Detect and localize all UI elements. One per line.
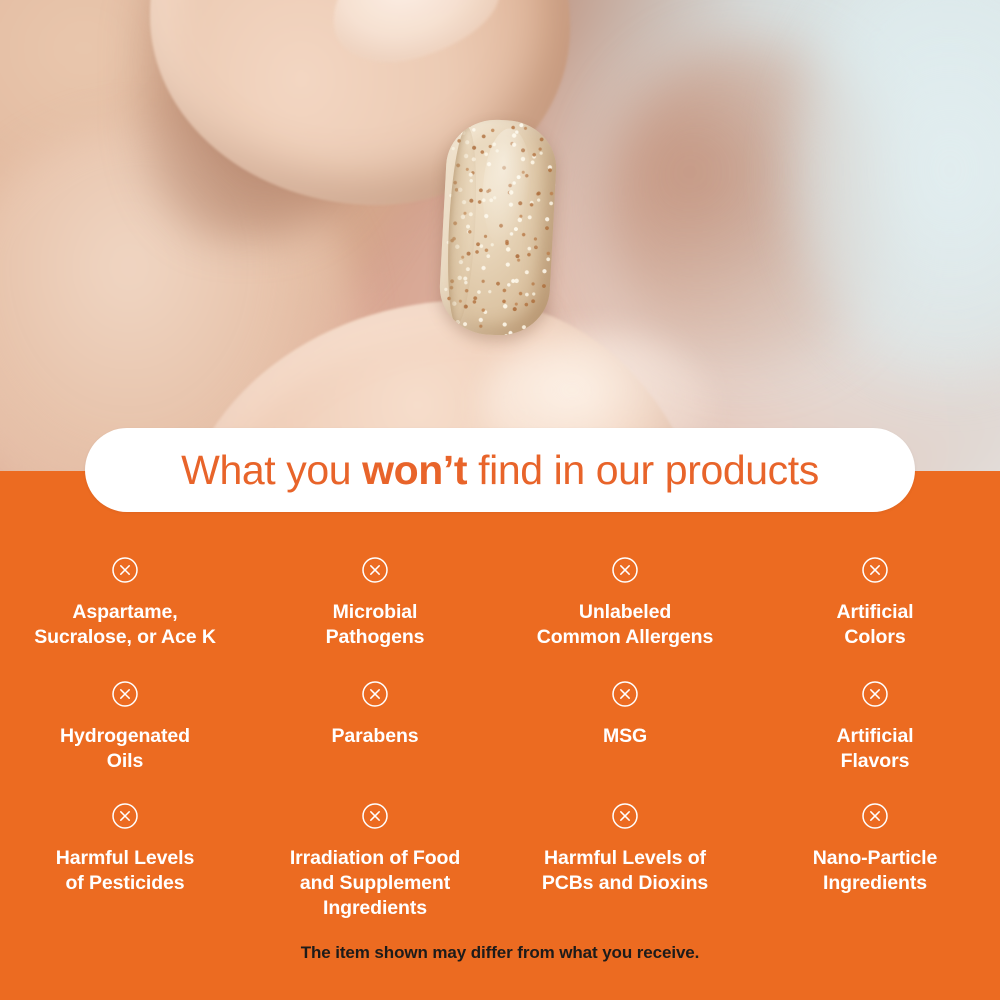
page-title: What you won’t find in our products [181, 450, 819, 491]
exclusion-label: Parabens [332, 724, 419, 749]
exclusion-label: Nano-Particle Ingredients [813, 846, 937, 896]
exclusion-label: Harmful Levels of Pesticides [56, 846, 194, 896]
exclusion-label: Irradiation of Food and Supplement Ingre… [290, 846, 460, 921]
exclusion-item: Microbial Pathogens [250, 540, 500, 650]
x-circle-icon [361, 802, 389, 830]
exclusion-item: Artificial Colors [750, 540, 1000, 650]
title-pill: What you won’t find in our products [85, 428, 915, 512]
exclusion-label: Harmful Levels of PCBs and Dioxins [542, 846, 708, 896]
product-photo [0, 0, 1000, 471]
x-circle-icon [361, 556, 389, 584]
grid-row: Aspartame, Sucralose, or Ace K Microbial… [0, 540, 1000, 650]
page-title-part2: find in our products [467, 447, 819, 493]
page-title-emphasis: won’t [362, 447, 467, 493]
x-circle-icon [861, 680, 889, 708]
x-circle-icon [861, 556, 889, 584]
exclusion-label: Unlabeled Common Allergens [537, 600, 713, 650]
exclusion-item: Parabens [250, 650, 500, 774]
x-circle-icon [611, 556, 639, 584]
x-circle-icon [111, 802, 139, 830]
tablet-icon [437, 117, 558, 337]
x-circle-icon [111, 556, 139, 584]
x-circle-icon [611, 680, 639, 708]
product-claims-infographic: What you won’t find in our products Aspa… [0, 0, 1000, 1000]
exclusion-item: Artificial Flavors [750, 650, 1000, 774]
exclusion-item: Irradiation of Food and Supplement Ingre… [250, 774, 500, 921]
x-circle-icon [861, 802, 889, 830]
exclusion-label: Artificial Colors [836, 600, 913, 650]
x-circle-icon [111, 680, 139, 708]
excluded-ingredients-grid: Aspartame, Sucralose, or Ace K Microbial… [0, 540, 1000, 921]
x-circle-icon [611, 802, 639, 830]
exclusion-item: Hydrogenated Oils [0, 650, 250, 774]
grid-row: Hydrogenated Oils Parabens MSG Artificia… [0, 650, 1000, 774]
exclusion-label: Aspartame, Sucralose, or Ace K [34, 600, 216, 650]
exclusion-label: Microbial Pathogens [326, 600, 425, 650]
exclusion-item: Nano-Particle Ingredients [750, 774, 1000, 921]
exclusion-label: Hydrogenated Oils [60, 724, 190, 774]
exclusion-item: Aspartame, Sucralose, or Ace K [0, 540, 250, 650]
x-circle-icon [361, 680, 389, 708]
exclusion-label: MSG [603, 724, 647, 749]
exclusion-item: Harmful Levels of PCBs and Dioxins [500, 774, 750, 921]
grid-row: Harmful Levels of Pesticides Irradiation… [0, 774, 1000, 921]
exclusion-item: Harmful Levels of Pesticides [0, 774, 250, 921]
exclusion-item: Unlabeled Common Allergens [500, 540, 750, 650]
page-title-part1: What you [181, 447, 362, 493]
exclusion-item: MSG [500, 650, 750, 774]
disclaimer-text: The item shown may differ from what you … [0, 943, 1000, 963]
exclusion-label: Artificial Flavors [836, 724, 913, 774]
